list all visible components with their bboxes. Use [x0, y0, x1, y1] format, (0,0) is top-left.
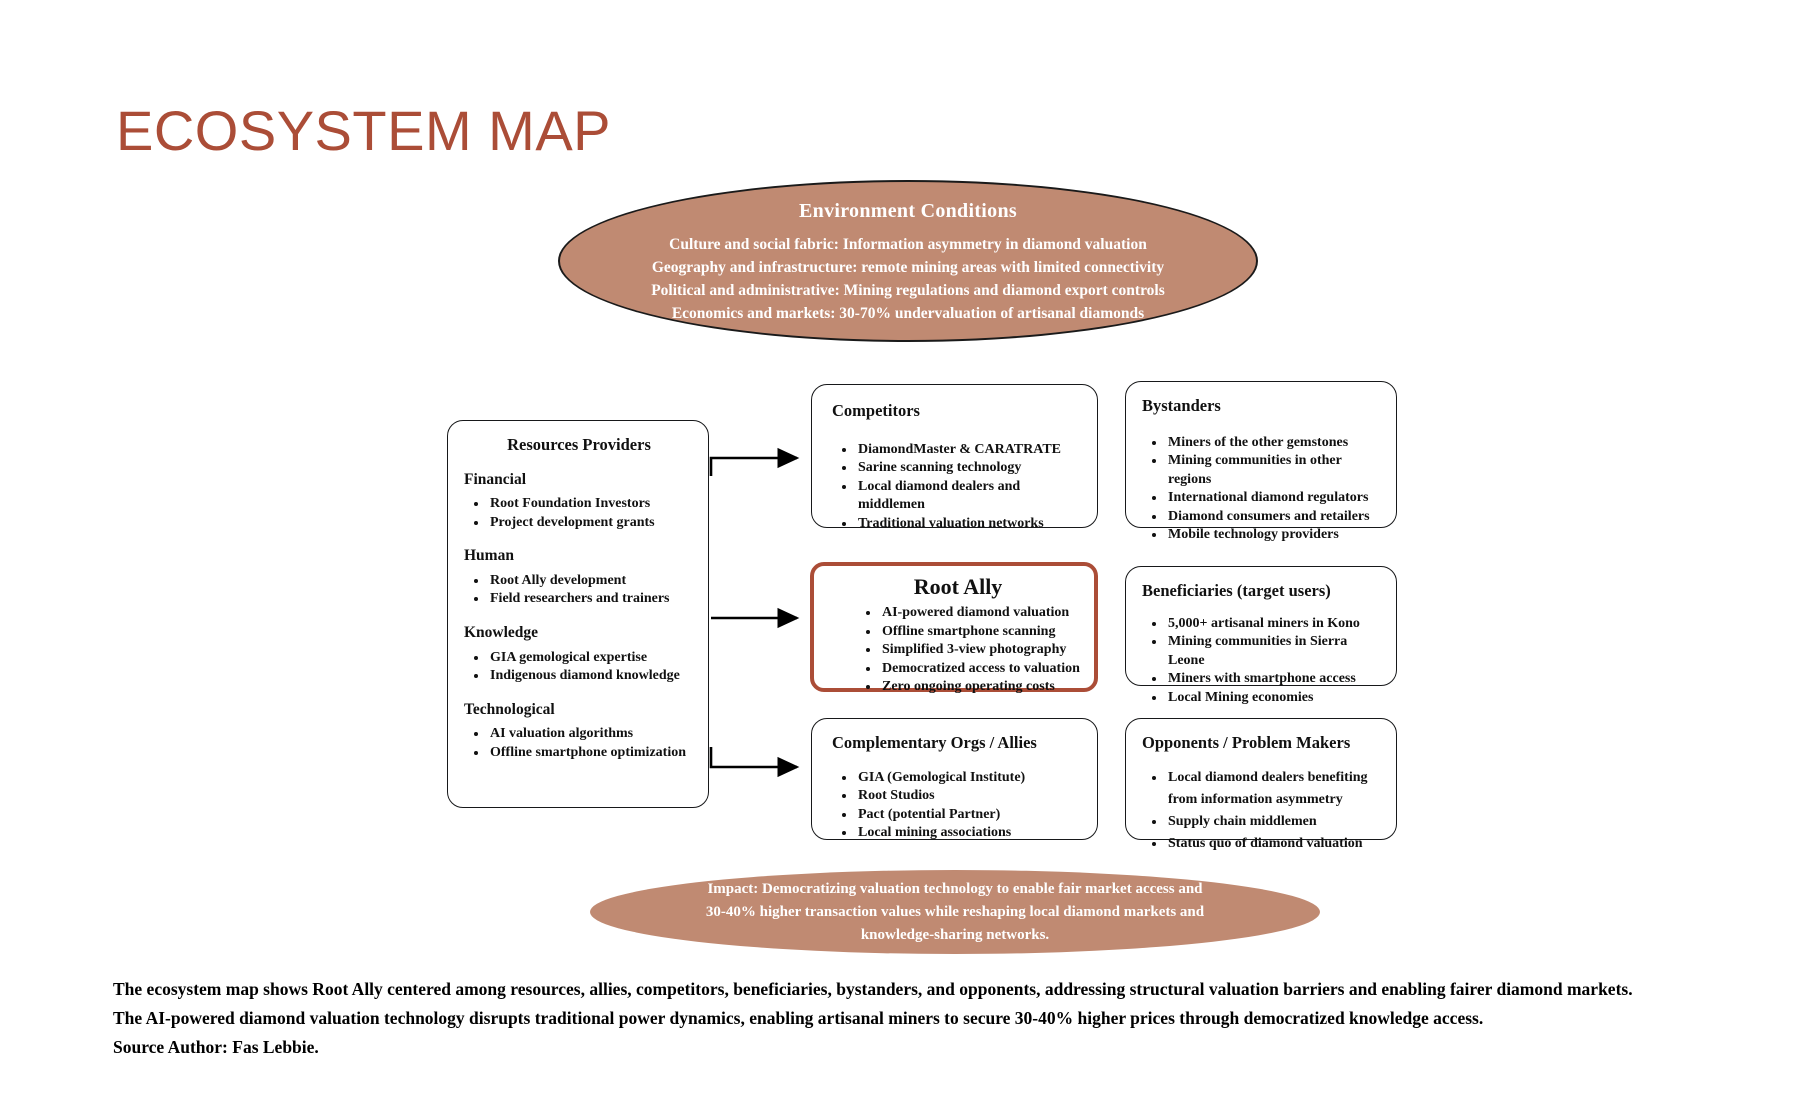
- bystanders-heading: Bystanders: [1142, 396, 1386, 416]
- page-title: ECOSYSTEM MAP: [116, 98, 611, 163]
- environment-condition-line: Political and administrative: Mining reg…: [651, 279, 1165, 302]
- list-item: Local diamond dealers and middlemen: [856, 478, 1085, 515]
- resources-providers-heading: Resources Providers: [464, 435, 694, 455]
- arrow-resources-to-root-ally: [709, 606, 819, 630]
- list-item: Traditional valuation networks: [856, 515, 1085, 534]
- environment-condition-line: Geography and infrastructure: remote min…: [652, 256, 1164, 279]
- impact-line: Impact: Democratizing valuation technolo…: [707, 878, 1202, 901]
- list-item: Miners of the other gemstones: [1166, 434, 1386, 453]
- list-item: Field researchers and trainers: [488, 590, 694, 609]
- caption-source: Source Author: Fas Lebbie.: [113, 1033, 1633, 1062]
- arrow-resources-to-competitors: [709, 440, 819, 480]
- impact-line: 30-40% higher transaction values while r…: [706, 901, 1204, 924]
- list-item: Local diamond dealers benefiting from in…: [1166, 767, 1384, 811]
- resources-group-list: AI valuation algorithms Offline smartpho…: [464, 725, 694, 762]
- opponents-heading: Opponents / Problem Makers: [1142, 733, 1384, 753]
- list-item: Supply chain middlemen: [1166, 811, 1384, 833]
- caption-body: The ecosystem map shows Root Ally center…: [113, 979, 1633, 1028]
- resources-group-knowledge: Knowledge GIA gemological expertise Indi…: [464, 624, 694, 686]
- resources-group-financial: Financial Root Foundation Investors Proj…: [464, 471, 694, 533]
- list-item: Indigenous diamond knowledge: [488, 667, 694, 686]
- opponents-problem-makers-box: Opponents / Problem Makers Local diamond…: [1125, 718, 1397, 840]
- allies-heading: Complementary Orgs / Allies: [832, 733, 1087, 753]
- list-item: Offline smartphone scanning: [880, 623, 1084, 642]
- environment-condition-line: Economics and markets: 30-70% undervalua…: [672, 302, 1144, 325]
- bystanders-box: Bystanders Miners of the other gemstones…: [1125, 381, 1397, 528]
- competitors-list: DiamondMaster & CARATRATE Sarine scannin…: [832, 441, 1085, 534]
- list-item: Offline smartphone optimization: [488, 744, 694, 763]
- complementary-orgs-allies-box: Complementary Orgs / Allies GIA (Gemolog…: [811, 718, 1098, 840]
- beneficiaries-heading: Beneficiaries (target users): [1142, 581, 1386, 601]
- impact-ellipse: Impact: Democratizing valuation technolo…: [590, 870, 1320, 954]
- beneficiaries-list: 5,000+ artisanal miners in Kono Mining c…: [1142, 615, 1386, 708]
- list-item: Root Ally development: [488, 572, 694, 591]
- resources-group-list: GIA gemological expertise Indigenous dia…: [464, 649, 694, 686]
- list-item: Local mining associations: [856, 824, 1087, 843]
- impact-line: knowledge-sharing networks.: [861, 924, 1049, 947]
- list-item: Mining communities in other regions: [1166, 452, 1386, 489]
- list-item: Local Mining economies: [1166, 689, 1386, 708]
- competitors-box: Competitors DiamondMaster & CARATRATE Sa…: [811, 384, 1098, 528]
- list-item: Pact (potential Partner): [856, 806, 1087, 825]
- resources-group-label: Human: [464, 547, 694, 566]
- list-item: Project development grants: [488, 514, 694, 533]
- list-item: AI-powered diamond valuation: [880, 604, 1084, 623]
- list-item: Sarine scanning technology: [856, 459, 1085, 478]
- root-ally-box: Root Ally AI-powered diamond valuation O…: [810, 562, 1098, 692]
- environment-conditions-heading: Environment Conditions: [799, 200, 1017, 223]
- list-item: Root Studios: [856, 787, 1087, 806]
- list-item: GIA (Gemological Institute): [856, 769, 1087, 788]
- list-item: Democratized access to valuation: [880, 660, 1084, 679]
- resources-group-list: Root Foundation Investors Project develo…: [464, 495, 694, 532]
- root-ally-list: AI-powered diamond valuation Offline sma…: [832, 604, 1084, 697]
- opponents-list: Local diamond dealers benefiting from in…: [1142, 767, 1384, 855]
- list-item: Simplified 3-view photography: [880, 641, 1084, 660]
- caption: The ecosystem map shows Root Ally center…: [113, 975, 1633, 1062]
- bystanders-list: Miners of the other gemstones Mining com…: [1142, 434, 1386, 545]
- list-item: Zero ongoing operating costs: [880, 678, 1084, 697]
- beneficiaries-box: Beneficiaries (target users) 5,000+ arti…: [1125, 566, 1397, 686]
- list-item: International diamond regulators: [1166, 489, 1386, 508]
- root-ally-heading: Root Ally: [832, 574, 1084, 600]
- resources-group-label: Technological: [464, 701, 694, 720]
- allies-list: GIA (Gemological Institute) Root Studios…: [832, 769, 1087, 843]
- list-item: Status quo of diamond valuation: [1166, 833, 1384, 855]
- list-item: Root Foundation Investors: [488, 495, 694, 514]
- list-item: DiamondMaster & CARATRATE: [856, 441, 1085, 460]
- list-item: Mining communities in Sierra Leone: [1166, 633, 1386, 670]
- resources-providers-box: Resources Providers Financial Root Found…: [447, 420, 709, 808]
- list-item: Diamond consumers and retailers: [1166, 508, 1386, 527]
- list-item: AI valuation algorithms: [488, 725, 694, 744]
- resources-group-label: Knowledge: [464, 624, 694, 643]
- resources-group-list: Root Ally development Field researchers …: [464, 572, 694, 609]
- arrow-resources-to-allies: [709, 745, 819, 785]
- environment-conditions-ellipse: Environment Conditions Culture and socia…: [558, 180, 1258, 342]
- environment-condition-line: Culture and social fabric: Information a…: [669, 233, 1147, 256]
- resources-group-human: Human Root Ally development Field resear…: [464, 547, 694, 609]
- competitors-heading: Competitors: [832, 401, 1085, 421]
- resources-group-label: Financial: [464, 471, 694, 490]
- list-item: Mobile technology providers: [1166, 526, 1386, 545]
- resources-group-technological: Technological AI valuation algorithms Of…: [464, 701, 694, 763]
- list-item: GIA gemological expertise: [488, 649, 694, 668]
- list-item: Miners with smartphone access: [1166, 670, 1386, 689]
- list-item: 5,000+ artisanal miners in Kono: [1166, 615, 1386, 634]
